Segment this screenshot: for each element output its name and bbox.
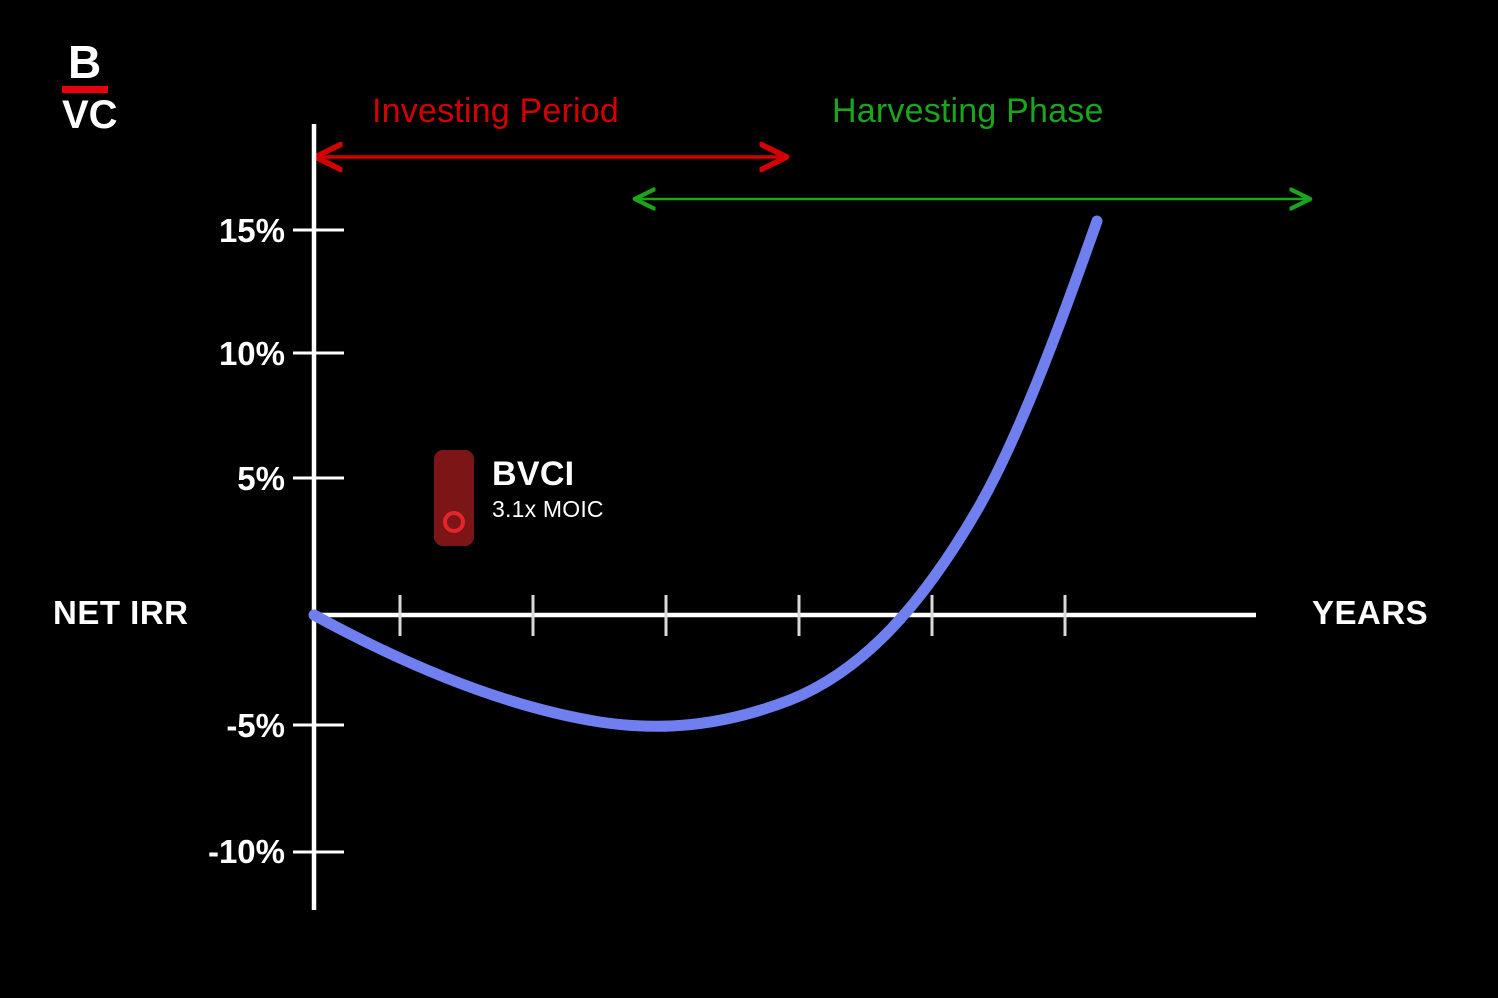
legend-bvci: BVCI 3.1x MOIC [434, 450, 604, 546]
circle-marker-icon [443, 511, 465, 533]
plot-area [0, 0, 1498, 998]
legend-swatch [434, 450, 474, 546]
chart-canvas: B VC Investing Period Harvesting Phase N… [0, 0, 1498, 998]
legend-subtitle: 3.1x MOIC [492, 495, 604, 523]
legend-title: BVCI [492, 456, 604, 492]
series-line-bvci [314, 221, 1097, 726]
y-axis-ticks [293, 230, 344, 852]
legend-text-block: BVCI 3.1x MOIC [492, 450, 604, 523]
